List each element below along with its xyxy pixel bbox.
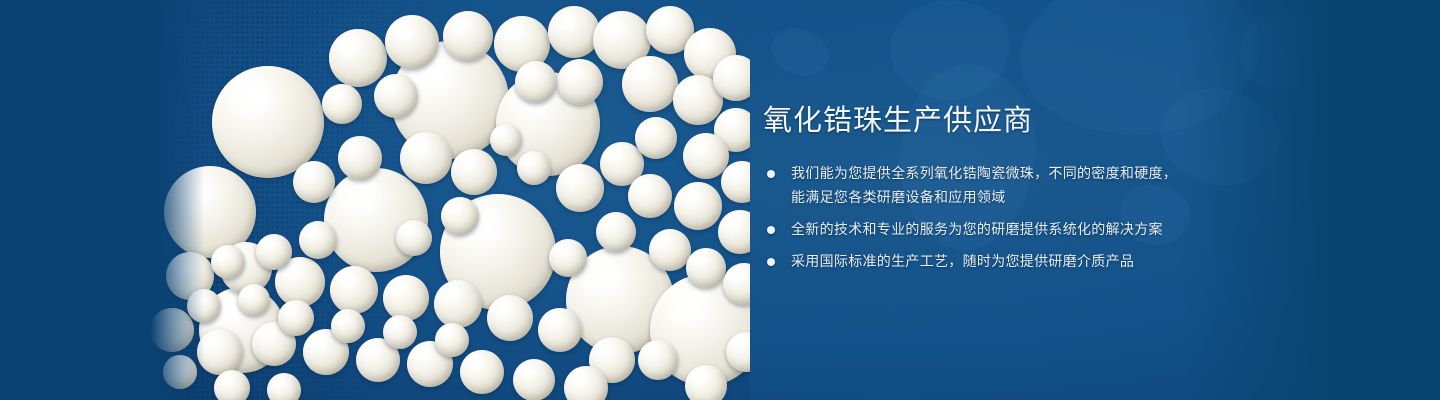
ceramic-bead <box>443 11 493 61</box>
ceramic-bead <box>441 197 479 235</box>
ceramic-bead <box>513 359 555 400</box>
ceramic-bead <box>638 340 678 380</box>
feature-list: 我们能为您提供全系列氧化锆陶瓷微珠，不同的密度和硬度， 能满足您各类研磨设备和应… <box>763 162 1283 273</box>
ceramic-bead <box>435 323 469 357</box>
ceramic-bead <box>383 315 417 349</box>
ceramic-bead <box>628 174 672 218</box>
ceramic-bead <box>374 74 418 118</box>
ceramic-bead <box>256 234 292 270</box>
ceramic-bead <box>385 15 439 69</box>
ceramic-bead <box>338 136 382 180</box>
ceramic-bead <box>197 329 243 375</box>
ceramic-bead <box>400 132 452 184</box>
ceramic-bead <box>538 308 582 352</box>
hero-banner: 氧化锆珠生产供应商 我们能为您提供全系列氧化锆陶瓷微珠，不同的密度和硬度， 能满… <box>0 0 1440 400</box>
ceramic-bead <box>322 84 362 124</box>
ceramic-bead <box>549 239 587 277</box>
zirconia-beads-photo <box>150 0 750 400</box>
ceramic-bead <box>674 182 722 230</box>
ceramic-bead <box>163 355 197 389</box>
ceramic-bead <box>238 284 270 316</box>
ceramic-bead <box>396 220 432 256</box>
list-item: 采用国际标准的生产工艺，随时为您提供研磨介质产品 <box>763 250 1283 273</box>
ceramic-bead <box>649 229 691 271</box>
ceramic-bead <box>596 212 636 252</box>
ceramic-bead <box>211 245 245 279</box>
page-title: 氧化锆珠生产供应商 <box>763 104 1283 138</box>
ceramic-bead <box>150 308 194 352</box>
ceramic-bead <box>460 350 504 394</box>
ceramic-bead <box>331 309 365 343</box>
list-item-line: 我们能为您提供全系列氧化锆陶瓷微珠，不同的密度和硬度， <box>791 162 1283 185</box>
bullet-dot-icon <box>767 226 775 234</box>
banner-copy: 氧化锆珠生产供应商 我们能为您提供全系列氧化锆陶瓷微珠，不同的密度和硬度， 能满… <box>763 104 1283 273</box>
bullet-dot-icon <box>767 258 775 266</box>
ceramic-bead <box>556 164 604 212</box>
ceramic-bead <box>434 280 482 328</box>
list-item-line: 能满足您各类研磨设备和应用领域 <box>791 186 1283 209</box>
ceramic-bead <box>515 61 557 103</box>
ceramic-bead <box>293 161 335 203</box>
ceramic-bead <box>330 266 378 314</box>
ceramic-bead <box>451 149 497 195</box>
ceramic-bead <box>635 117 677 159</box>
list-item: 我们能为您提供全系列氧化锆陶瓷微珠，不同的密度和硬度， 能满足您各类研磨设备和应… <box>763 162 1283 209</box>
ceramic-bead <box>685 365 727 400</box>
ceramic-bead <box>187 289 221 323</box>
ceramic-bead <box>517 151 551 185</box>
ceramic-bead <box>686 248 726 288</box>
list-item-line: 采用国际标准的生产工艺，随时为您提供研磨介质产品 <box>791 250 1283 273</box>
map-landmass <box>764 20 836 84</box>
ceramic-bead <box>383 275 429 321</box>
ceramic-bead <box>490 124 522 156</box>
bullet-dot-icon <box>767 170 775 178</box>
ceramic-bead <box>278 300 314 336</box>
list-item-line: 全新的技术和专业的服务为您的研磨提供系统化的解决方案 <box>791 218 1283 241</box>
ceramic-bead <box>548 6 600 58</box>
ceramic-bead <box>557 59 603 105</box>
ceramic-bead <box>267 373 301 400</box>
ceramic-bead <box>214 370 250 400</box>
ceramic-bead <box>622 56 678 112</box>
ceramic-bead <box>299 221 337 259</box>
ceramic-bead <box>329 29 387 87</box>
list-item: 全新的技术和专业的服务为您的研磨提供系统化的解决方案 <box>763 218 1283 241</box>
ceramic-bead <box>487 295 533 341</box>
